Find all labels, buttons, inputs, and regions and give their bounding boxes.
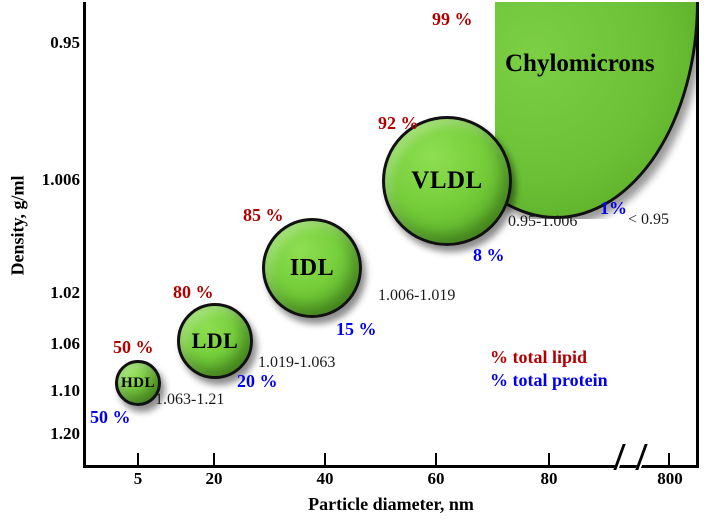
- x-tick-5: [137, 453, 139, 465]
- x-tick-20: [213, 453, 215, 465]
- ldl-density-range: 1.019-1.063: [258, 355, 335, 371]
- x-axis-title: Particle diameter, nm: [83, 494, 699, 515]
- chylomicrons-protein-percent: 1%: [600, 199, 627, 217]
- x-tick-label-2: 40: [295, 470, 355, 487]
- x-tick-40: [324, 453, 326, 465]
- idl-protein-percent: 15 %: [336, 320, 377, 338]
- vldl-protein-percent: 8 %: [473, 246, 505, 264]
- x-tick-label-0: 5: [108, 470, 168, 487]
- chylomicrons-label: Chylomicrons: [505, 50, 655, 78]
- bubble-idl: IDL: [262, 218, 362, 318]
- x-tick-label-5: 800: [640, 470, 700, 487]
- idl-density-range: 1.006-1.019: [378, 288, 455, 304]
- y-tick-label-4: 1.10: [0, 382, 80, 399]
- x-tick-80: [548, 453, 550, 465]
- y-axis-title: Density, g/ml: [8, 146, 29, 306]
- lipoprotein-density-chart: 0.95 1.006 1.02 1.06 1.10 1.20 5 20 40 6…: [0, 0, 712, 523]
- bubble-vldl: VLDL: [382, 116, 512, 246]
- x-tick-60: [435, 453, 437, 465]
- bubble-ldl: LDL: [177, 303, 253, 379]
- bubble-label-vldl: VLDL: [411, 167, 482, 195]
- y-tick-label-5: 1.20: [0, 425, 80, 442]
- ldl-lipid-percent: 80 %: [173, 283, 214, 301]
- legend-item-total-protein: % total protein: [490, 369, 608, 392]
- bubble-label-hdl: HDL: [121, 375, 155, 392]
- hdl-lipid-percent: 50 %: [113, 338, 154, 356]
- legend-item-total-lipid: % total lipid: [490, 346, 608, 369]
- x-tick-800: [668, 453, 670, 465]
- vldl-lipid-percent: 92 %: [378, 114, 419, 132]
- ldl-protein-percent: 20 %: [237, 372, 278, 390]
- bubble-label-idl: IDL: [290, 255, 334, 282]
- x-tick-label-1: 20: [184, 470, 244, 487]
- legend: % total lipid % total protein: [490, 346, 608, 391]
- x-axis-line: [83, 465, 699, 468]
- hdl-density-range: 1.063-1.21: [155, 392, 224, 408]
- y-axis-line: [83, 2, 86, 468]
- y-tick-label-3: 1.06: [0, 335, 80, 352]
- right-axis-line: [696, 2, 699, 468]
- vldl-density-range: 0.95-1.006: [508, 214, 577, 230]
- bubble-label-ldl: LDL: [192, 328, 239, 354]
- chylomicrons-density-range: < 0.95: [628, 212, 669, 228]
- idl-lipid-percent: 85 %: [243, 206, 284, 224]
- y-tick-label-0: 0.95: [0, 34, 80, 51]
- hdl-protein-percent: 50 %: [90, 408, 131, 426]
- x-tick-label-4: 80: [519, 470, 579, 487]
- chylomicrons-lipid-percent: 99 %: [432, 10, 473, 28]
- x-tick-label-3: 60: [406, 470, 466, 487]
